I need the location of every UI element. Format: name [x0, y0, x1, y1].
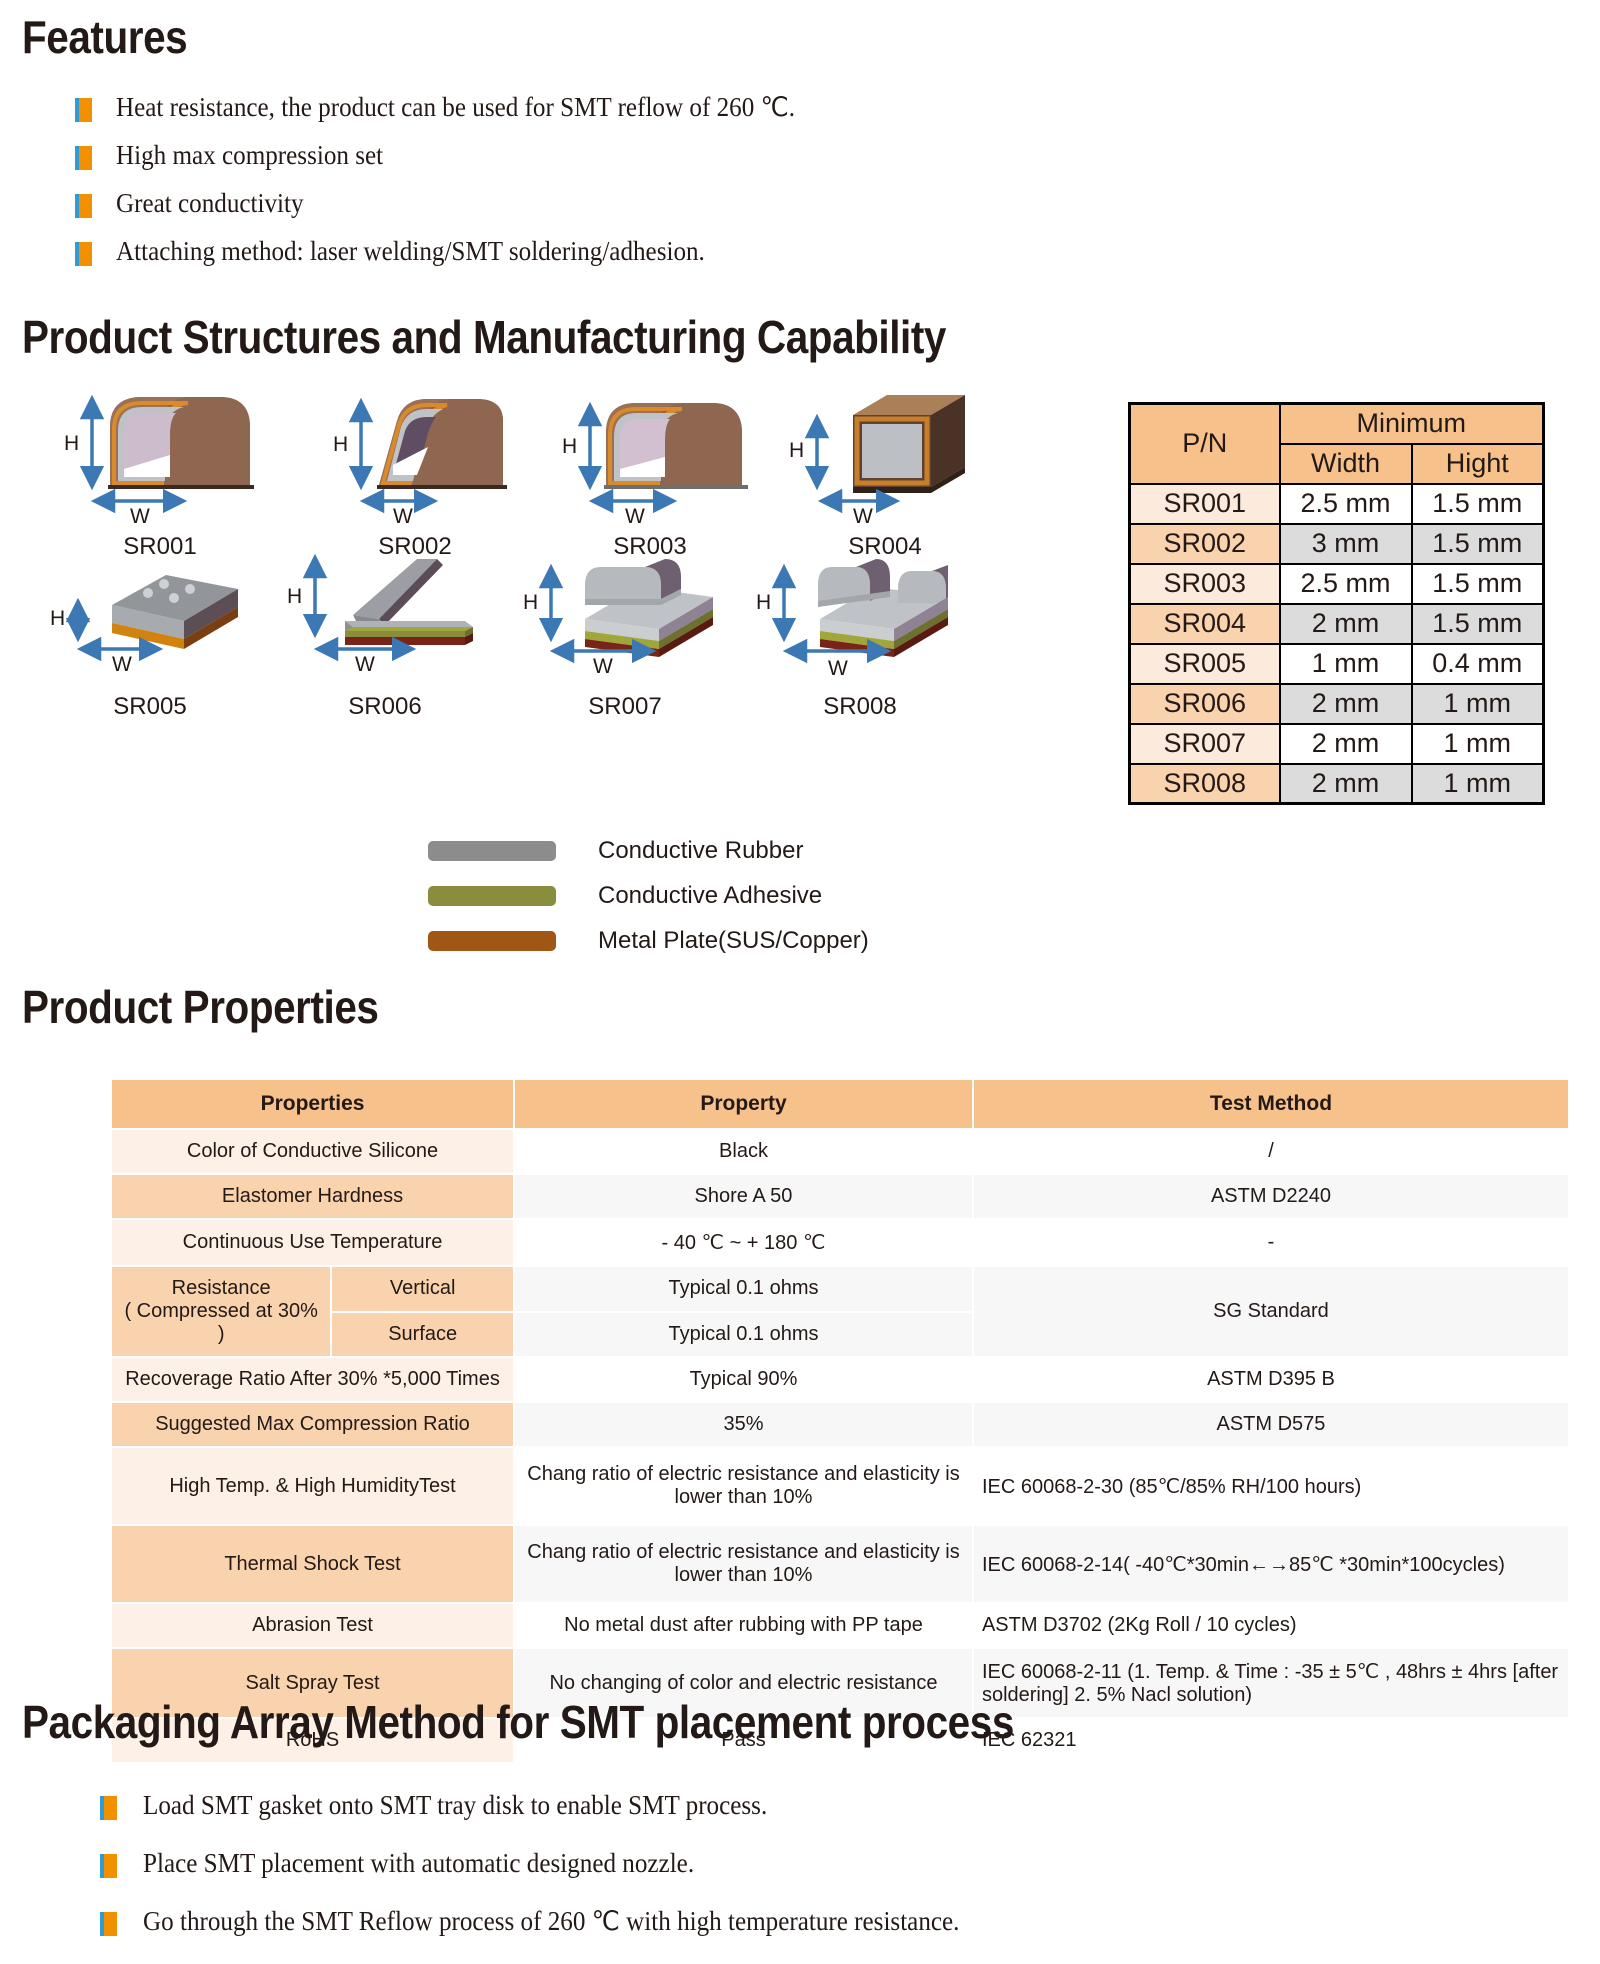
- dimension-h-label: H: [50, 607, 65, 631]
- diagram-label: SR008: [730, 693, 990, 721]
- cell-property-value: Black: [515, 1130, 972, 1173]
- dimension-w-label: W: [355, 653, 375, 677]
- dimension-arrows: [520, 385, 780, 535]
- table-header-row: P/N Minimum: [1130, 404, 1544, 444]
- cell-test-method: IEC 60068-2-11 (1. Temp. & Time : -35 ± …: [974, 1649, 1568, 1717]
- cell-property-name: Color of Conductive Silicone: [112, 1130, 513, 1173]
- cell-property-name: Abrasion Test: [112, 1604, 513, 1647]
- cell-pn: SR008: [1130, 764, 1280, 804]
- column-header-minimum: Minimum: [1280, 404, 1544, 444]
- diagram-sr006: H W SR006: [255, 545, 515, 695]
- dimension-h-label: H: [333, 433, 348, 457]
- cell-width: 2.5 mm: [1280, 484, 1412, 524]
- dimension-w-label: W: [112, 653, 132, 677]
- features-list: Heat resistance, the product can be used…: [75, 92, 846, 284]
- cell-width: 2 mm: [1280, 604, 1412, 644]
- table-row: SR008 2 mm 1 mm: [1130, 764, 1544, 804]
- bullet-square-icon: [75, 146, 92, 170]
- table-row: SR003 2.5 mm 1.5 mm: [1130, 564, 1544, 604]
- cell-height: 1.5 mm: [1412, 564, 1544, 604]
- cell-test-method: ASTM D2240: [974, 1175, 1568, 1218]
- swatch-conductive-rubber: [428, 841, 556, 861]
- cell-height: 1 mm: [1412, 684, 1544, 724]
- dimension-arrows: [285, 385, 545, 535]
- list-item: High max compression set: [75, 140, 846, 171]
- resistance-line1: Resistance: [120, 1277, 322, 1300]
- cell-height: 1.5 mm: [1412, 524, 1544, 564]
- feature-text: Heat resistance, the product can be used…: [116, 92, 795, 123]
- dimension-arrows: [730, 545, 990, 695]
- table-row: SR001 2.5 mm 1.5 mm: [1130, 484, 1544, 524]
- cell-pn: SR006: [1130, 684, 1280, 724]
- packaging-steps-list: Load SMT gasket onto SMT tray disk to en…: [100, 1790, 1021, 1964]
- cell-height: 1.5 mm: [1412, 604, 1544, 644]
- column-header-test-method: Test Method: [974, 1080, 1568, 1128]
- column-header-height: Hight: [1412, 444, 1544, 484]
- cell-test-method: ASTM D395 B: [974, 1358, 1568, 1401]
- legend-item: Metal Plate(SUS/Copper): [428, 918, 869, 963]
- bullet-square-icon: [75, 242, 92, 266]
- cell-width: 1 mm: [1280, 644, 1412, 684]
- cell-property-value: No metal dust after rubbing with PP tape: [515, 1604, 972, 1647]
- legend-label: Metal Plate(SUS/Copper): [598, 927, 869, 955]
- cell-property-name-resistance: Resistance ( Compressed at 30% ): [112, 1267, 330, 1356]
- cell-property-sub-vertical: Vertical: [332, 1267, 513, 1311]
- structure-diagrams: H W SR001 H W SR002: [0, 385, 1120, 675]
- cell-test-method: ASTM D575: [974, 1403, 1568, 1446]
- diagram-label: SR005: [20, 693, 280, 721]
- packaging-step-text: Load SMT gasket onto SMT tray disk to en…: [143, 1790, 767, 1821]
- cell-height: 0.4 mm: [1412, 644, 1544, 684]
- list-item: Great conductivity: [75, 188, 846, 219]
- table-row: SR007 2 mm 1 mm: [1130, 724, 1544, 764]
- dimension-w-label: W: [130, 505, 150, 529]
- column-header-properties: Properties: [112, 1080, 513, 1128]
- dimension-h-label: H: [64, 432, 79, 456]
- cell-pn: SR001: [1130, 484, 1280, 524]
- cell-property-name: Elastomer Hardness: [112, 1175, 513, 1218]
- column-header-width: Width: [1280, 444, 1412, 484]
- diagram-sr003: H W SR003: [520, 385, 780, 535]
- diagram-sr007: H W SR007: [495, 545, 755, 695]
- list-item: Attaching method: laser welding/SMT sold…: [75, 236, 846, 267]
- swatch-conductive-adhesive: [428, 886, 556, 906]
- diagram-sr001: H W SR001: [30, 385, 290, 535]
- table-row: Color of Conductive Silicone Black /: [112, 1130, 1568, 1173]
- cell-width: 2 mm: [1280, 684, 1412, 724]
- dimension-h-label: H: [523, 591, 538, 615]
- table-row: Resistance ( Compressed at 30% ) Vertica…: [112, 1267, 1568, 1311]
- cell-width: 2.5 mm: [1280, 564, 1412, 604]
- diagram-sr008: H W SR008: [730, 545, 990, 695]
- diagram-label: SR006: [255, 693, 515, 721]
- table-row: SR004 2 mm 1.5 mm: [1130, 604, 1544, 644]
- cell-property-value: Typical 0.1 ohms: [515, 1267, 972, 1311]
- legend-item: Conductive Adhesive: [428, 873, 869, 918]
- page-title-packaging: Packaging Array Method for SMT placement…: [22, 1695, 1014, 1749]
- cell-height: 1 mm: [1412, 724, 1544, 764]
- cell-property-name: Continuous Use Temperature: [112, 1220, 513, 1265]
- bullet-square-icon: [75, 98, 92, 122]
- bullet-square-icon: [100, 1912, 117, 1936]
- list-item: Heat resistance, the product can be used…: [75, 92, 846, 123]
- pn-minimum-dimensions-table: P/N Minimum Width Hight SR001 2.5 mm 1.5…: [1128, 402, 1545, 805]
- cell-property-value: Shore A 50: [515, 1175, 972, 1218]
- cell-test-method: IEC 60068-2-14( -40℃*30min←→85℃ *30min*1…: [974, 1526, 1568, 1602]
- table-row: High Temp. & High HumidityTest Chang rat…: [112, 1448, 1568, 1524]
- cell-test-method: IEC 62321: [974, 1719, 1568, 1762]
- cell-pn: SR005: [1130, 644, 1280, 684]
- dimension-arrows: [495, 545, 755, 695]
- dimension-w-label: W: [593, 655, 613, 679]
- dimension-w-label: W: [828, 657, 848, 681]
- page-title-structures: Product Structures and Manufacturing Cap…: [22, 310, 946, 364]
- diagram-sr002: H W SR002: [285, 385, 545, 535]
- cell-pn: SR004: [1130, 604, 1280, 644]
- column-header-property: Property: [515, 1080, 972, 1128]
- feature-text: High max compression set: [116, 140, 383, 171]
- list-item: Go through the SMT Reflow process of 260…: [100, 1906, 1021, 1937]
- diagram-sr004: H W SR004: [755, 385, 1015, 535]
- column-header-pn: P/N: [1130, 404, 1280, 484]
- dimension-h-label: H: [789, 439, 804, 463]
- cell-property-sub-surface: Surface: [332, 1313, 513, 1357]
- bullet-square-icon: [100, 1796, 117, 1820]
- cell-test-method: /: [974, 1130, 1568, 1173]
- cell-width: 3 mm: [1280, 524, 1412, 564]
- feature-text: Attaching method: laser welding/SMT sold…: [116, 236, 705, 267]
- cell-height: 1.5 mm: [1412, 484, 1544, 524]
- product-properties-table: Properties Property Test Method Color of…: [110, 1078, 1570, 1764]
- table-header-row: Properties Property Test Method: [112, 1080, 1568, 1128]
- packaging-step-text: Place SMT placement with automatic desig…: [143, 1848, 694, 1879]
- bullet-square-icon: [75, 194, 92, 218]
- dimension-h-label: H: [287, 585, 302, 609]
- cell-pn: SR007: [1130, 724, 1280, 764]
- table-row: Abrasion Test No metal dust after rubbin…: [112, 1604, 1568, 1647]
- legend-label: Conductive Rubber: [598, 837, 803, 865]
- legend-item: Conductive Rubber: [428, 828, 869, 873]
- cell-test-method: ASTM D3702 (2Kg Roll / 10 cycles): [974, 1604, 1568, 1647]
- cell-width: 2 mm: [1280, 724, 1412, 764]
- table-row: Thermal Shock Test Chang ratio of electr…: [112, 1526, 1568, 1602]
- cell-test-method: SG Standard: [974, 1267, 1568, 1356]
- table-row: Elastomer Hardness Shore A 50 ASTM D2240: [112, 1175, 1568, 1218]
- cell-property-value: - 40 ℃ ~ + 180 ℃: [515, 1220, 972, 1265]
- packaging-step-text: Go through the SMT Reflow process of 260…: [143, 1906, 959, 1937]
- dimension-w-label: W: [393, 505, 413, 529]
- table-row: Suggested Max Compression Ratio 35% ASTM…: [112, 1403, 1568, 1446]
- table-row: SR002 3 mm 1.5 mm: [1130, 524, 1544, 564]
- cell-property-value: 35%: [515, 1403, 972, 1446]
- diagram-sr005: H W SR005: [20, 545, 280, 695]
- page-title-features: Features: [22, 10, 187, 64]
- cell-pn: SR002: [1130, 524, 1280, 564]
- diagram-label: SR007: [495, 693, 755, 721]
- cell-property-value: Typical 0.1 ohms: [515, 1313, 972, 1357]
- cell-property-name: Suggested Max Compression Ratio: [112, 1403, 513, 1446]
- dimension-h-label: H: [756, 591, 771, 615]
- bullet-square-icon: [100, 1854, 117, 1878]
- feature-text: Great conductivity: [116, 188, 304, 219]
- cell-width: 2 mm: [1280, 764, 1412, 804]
- cell-property-name: Thermal Shock Test: [112, 1526, 513, 1602]
- table-row: Recoverage Ratio After 30% *5,000 Times …: [112, 1358, 1568, 1401]
- dimension-h-label: H: [562, 435, 577, 459]
- dimension-w-label: W: [853, 505, 873, 529]
- cell-property-name: High Temp. & High HumidityTest: [112, 1448, 513, 1524]
- cell-property-value: Chang ratio of electric resistance and e…: [515, 1526, 972, 1602]
- materials-legend: Conductive Rubber Conductive Adhesive Me…: [428, 828, 869, 963]
- swatch-metal-plate: [428, 931, 556, 951]
- page-title-properties: Product Properties: [22, 980, 378, 1034]
- resistance-line2: ( Compressed at 30% ): [120, 1300, 322, 1346]
- cell-height: 1 mm: [1412, 764, 1544, 804]
- table-row: Continuous Use Temperature - 40 ℃ ~ + 18…: [112, 1220, 1568, 1265]
- list-item: Load SMT gasket onto SMT tray disk to en…: [100, 1790, 1021, 1821]
- cell-property-name: Recoverage Ratio After 30% *5,000 Times: [112, 1358, 513, 1401]
- table-row: SR005 1 mm 0.4 mm: [1130, 644, 1544, 684]
- table-row: SR006 2 mm 1 mm: [1130, 684, 1544, 724]
- cell-property-value: Typical 90%: [515, 1358, 972, 1401]
- cell-test-method: IEC 60068-2-30 (85℃/85% RH/100 hours): [974, 1448, 1568, 1524]
- legend-label: Conductive Adhesive: [598, 882, 822, 910]
- cell-pn: SR003: [1130, 564, 1280, 604]
- dimension-w-label: W: [625, 505, 645, 529]
- list-item: Place SMT placement with automatic desig…: [100, 1848, 1021, 1879]
- cell-property-value: Chang ratio of electric resistance and e…: [515, 1448, 972, 1524]
- dimension-arrows: [30, 385, 290, 535]
- dimension-arrows: [255, 545, 515, 695]
- cell-test-method: -: [974, 1220, 1568, 1265]
